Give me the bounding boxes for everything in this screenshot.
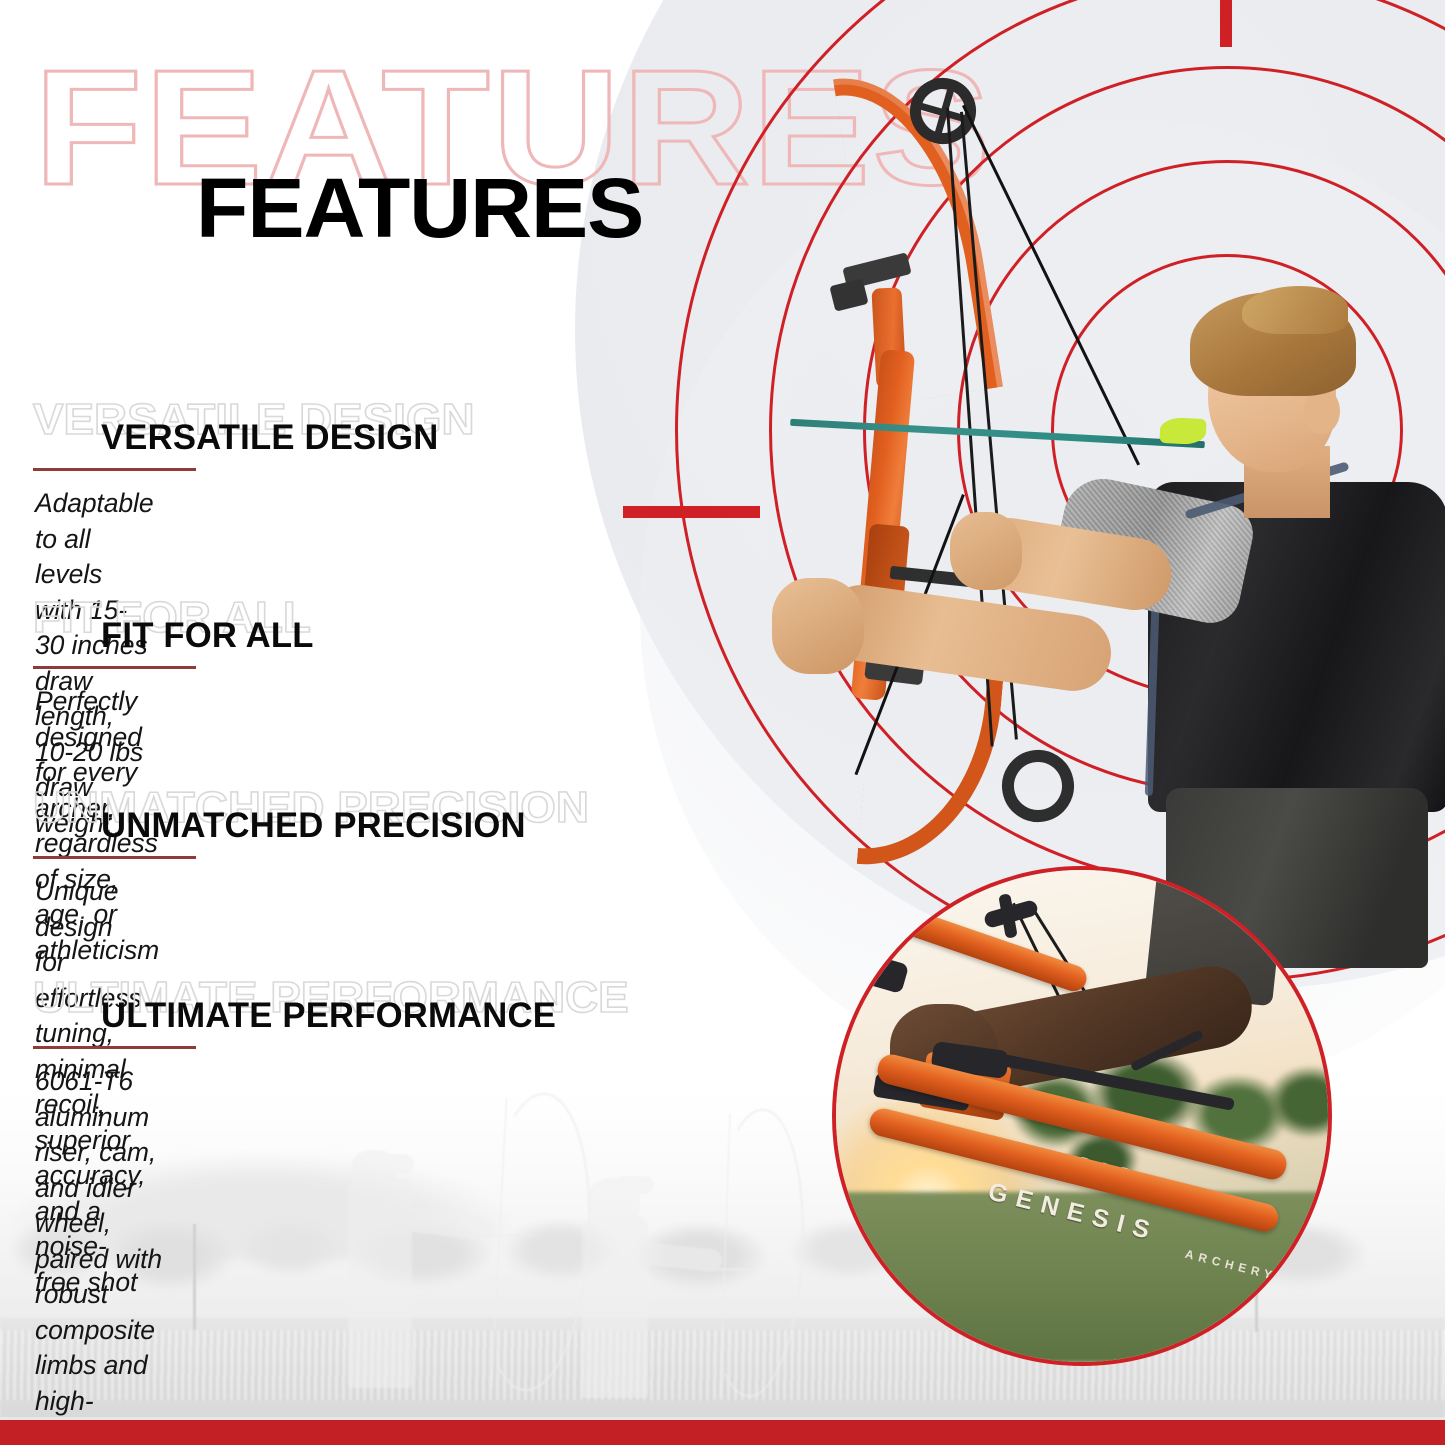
background-pole bbox=[193, 1224, 196, 1330]
compound-bow bbox=[770, 50, 1130, 850]
feature-heading: VERSATILE DESIGN bbox=[101, 420, 439, 455]
feature-underline bbox=[33, 468, 196, 471]
bow-lower-limb bbox=[857, 645, 1006, 875]
feature-underline bbox=[33, 856, 196, 859]
archer-bow-hand bbox=[772, 578, 864, 674]
hero-archer-photo bbox=[760, 30, 1445, 930]
archer-draw-hand bbox=[950, 512, 1022, 590]
feature-body: 6061-T6 aluminum riser, cam, and idler w… bbox=[35, 1064, 165, 1445]
feature-underline bbox=[33, 1046, 196, 1049]
cam-wheel bbox=[995, 743, 1080, 828]
footer-bar bbox=[0, 1420, 1445, 1445]
archer-hair-top bbox=[1242, 286, 1348, 334]
archer-figure bbox=[1090, 260, 1445, 950]
feature-heading: ULTIMATE PERFORMANCE bbox=[101, 998, 556, 1033]
feature-underline bbox=[33, 666, 196, 669]
feature-heading: UNMATCHED PRECISION bbox=[101, 808, 526, 843]
ghost-archer-right bbox=[560, 1156, 790, 1406]
feature-heading: FIT FOR ALL bbox=[101, 618, 314, 653]
bow-closeup-inset-photo: GENESIS ARCHERY GENESIS ARCHERY bbox=[832, 866, 1332, 1366]
ghost-archer-left bbox=[330, 1126, 570, 1406]
page-title: FEATURES bbox=[196, 166, 643, 250]
infographic-canvas: FEATURES bbox=[0, 0, 1445, 1445]
bow-sight-bracket bbox=[829, 278, 868, 311]
